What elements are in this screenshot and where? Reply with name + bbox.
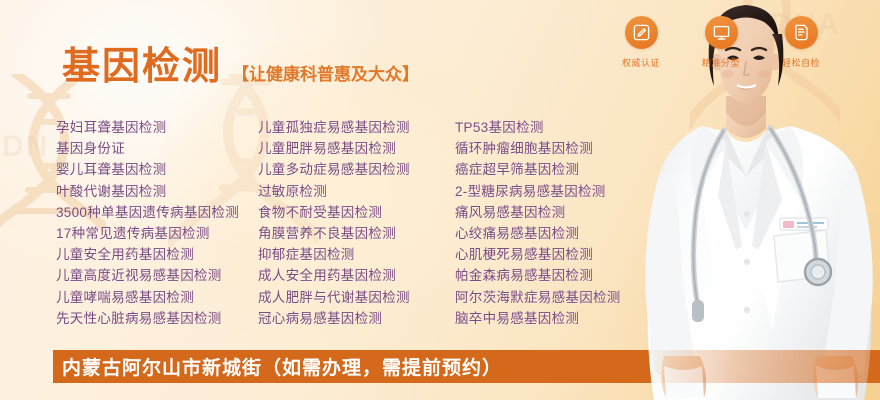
list-item[interactable]: 食物不耐受基因检测 <box>258 202 455 223</box>
list-item[interactable]: 儿童安全用药基因检测 <box>56 244 258 265</box>
list-item[interactable]: 阿尔茨海默症易感基因检测 <box>455 287 665 308</box>
edit-square-icon <box>632 23 651 42</box>
badge-authoritative-certification[interactable]: 权威认证 <box>612 16 670 69</box>
list-item[interactable]: 基因身份证 <box>56 138 258 159</box>
list-item[interactable]: 痛风易感基因检测 <box>455 202 665 223</box>
list-item[interactable]: 心肌梗死易感基因检测 <box>455 244 665 265</box>
badge-easy-self-check[interactable]: 轻松自检 <box>772 16 830 69</box>
list-item[interactable]: 儿童孤独症易感基因检测 <box>258 117 455 138</box>
list-item[interactable]: 2-型糖尿病易感基因检测 <box>455 181 665 202</box>
feature-badges: 权威认证 精准分型 轻松自检 <box>612 16 830 69</box>
list-item[interactable]: 帕金森病易感基因检测 <box>455 265 665 286</box>
badge-precise-typing[interactable]: 精准分型 <box>692 16 750 69</box>
page-subtitle: 【让健康科普惠及大众】 <box>232 66 419 86</box>
list-item[interactable]: 叶酸代谢基因检测 <box>56 181 258 202</box>
list-item[interactable]: 婴儿耳聋基因检测 <box>56 159 258 180</box>
badge-label: 精准分型 <box>702 56 740 69</box>
list-item[interactable]: 循环肿瘤细胞基因检测 <box>455 138 665 159</box>
document-report-icon <box>792 23 811 42</box>
list-item[interactable]: 孕妇耳聋基因检测 <box>56 117 258 138</box>
badge-icon-wrapper <box>625 16 658 49</box>
list-item[interactable]: 成人肥胖与代谢基因检测 <box>258 287 455 308</box>
badge-icon-wrapper <box>705 16 738 49</box>
list-item[interactable]: 冠心病易感基因检测 <box>258 308 455 329</box>
list-item[interactable]: 成人安全用药基因检测 <box>258 265 455 286</box>
ghost-watermark-left: DN <box>2 130 49 164</box>
list-item[interactable]: 心绞痛易感基因检测 <box>455 223 665 244</box>
list-item[interactable]: 脑卒中易感基因检测 <box>455 308 665 329</box>
page-title: 基因检测 <box>62 48 222 86</box>
list-item[interactable]: 儿童多动症易感基因检测 <box>258 159 455 180</box>
badge-icon-wrapper <box>785 16 818 49</box>
service-list-column-2: 儿童孤独症易感基因检测 儿童肥胖易感基因检测 儿童多动症易感基因检测 过敏原检测… <box>258 117 455 329</box>
service-list-column-3: TP53基因检测 循环肿瘤细胞基因检测 癌症超早筛基因检测 2-型糖尿病易感基因… <box>455 117 665 329</box>
headline-group: 基因检测 【让健康科普惠及大众】 <box>62 48 419 86</box>
service-list-column-1: 孕妇耳聋基因检测 基因身份证 婴儿耳聋基因检测 叶酸代谢基因检测 3500种单基… <box>56 117 258 329</box>
genetic-testing-poster: DN DNA 基因检测 【让健康科普惠及大众】 权威认证 <box>0 0 880 400</box>
list-item[interactable]: 儿童肥胖易感基因检测 <box>258 138 455 159</box>
address-banner-text: 内蒙古阿尔山市新城街（如需办理，需提前预约） <box>62 350 502 383</box>
list-item[interactable]: 过敏原检测 <box>258 181 455 202</box>
list-item[interactable]: TP53基因检测 <box>455 117 665 138</box>
badge-label: 权威认证 <box>622 56 660 69</box>
monitor-icon <box>712 23 731 42</box>
list-item[interactable]: 先天性心脏病易感基因检测 <box>56 308 258 329</box>
list-item[interactable]: 儿童哮喘易感基因检测 <box>56 287 258 308</box>
list-item[interactable]: 角膜营养不良基因检测 <box>258 223 455 244</box>
badge-label: 轻松自检 <box>782 56 820 69</box>
list-item[interactable]: 抑郁症基因检测 <box>258 244 455 265</box>
list-item[interactable]: 17种常见遗传病基因检测 <box>56 223 258 244</box>
service-list-columns: 孕妇耳聋基因检测 基因身份证 婴儿耳聋基因检测 叶酸代谢基因检测 3500种单基… <box>56 117 665 329</box>
list-item[interactable]: 3500种单基因遗传病基因检测 <box>56 202 258 223</box>
list-item[interactable]: 癌症超早筛基因检测 <box>455 159 665 180</box>
list-item[interactable]: 儿童高度近视易感基因检测 <box>56 265 258 286</box>
